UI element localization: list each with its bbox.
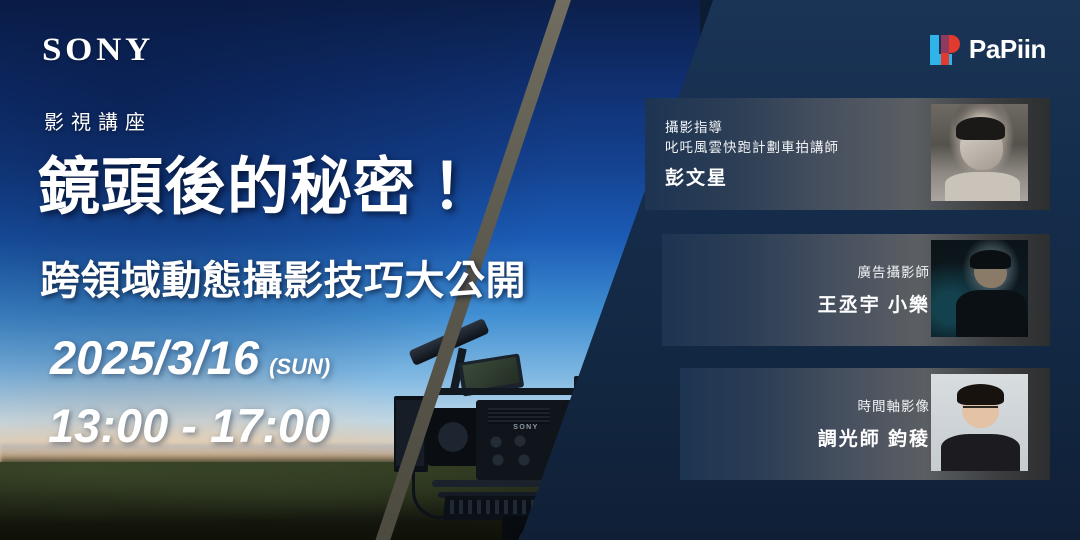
speaker-card[interactable]: 攝影指導 叱吒風雲快跑計劃車拍講師 彭文星 [645,98,1050,210]
speaker-name: 調光師 鈞稜 [818,424,930,451]
speaker-card-text: 廣告攝影師 王丞宇 小樂 [818,234,930,346]
speaker-role-line-1: 時間軸影像 [858,397,931,417]
speaker-card[interactable]: 廣告攝影師 王丞宇 小樂 [662,234,1050,346]
speaker-role-line-2: 叱吒風雲快跑計劃車拍講師 [665,138,839,158]
speaker-card-list: 攝影指導 叱吒風雲快跑計劃車拍講師 彭文星 廣告攝影師 王丞宇 小樂 時間軸影像… [0,0,1080,540]
speaker-card-text: 時間軸影像 調光師 鈞稜 [818,368,930,480]
speaker-card[interactable]: 時間軸影像 調光師 鈞稜 [680,368,1050,480]
speaker-portrait [931,240,1028,337]
speaker-role-line-1: 廣告攝影師 [858,263,931,283]
speaker-card-text: 攝影指導 叱吒風雲快跑計劃車拍講師 彭文星 [665,98,924,210]
speaker-name: 王丞宇 小樂 [818,290,930,317]
speaker-portrait [931,104,1028,201]
speaker-portrait [931,374,1028,471]
event-poster: SONY SONY PaPiin 影視講座 鏡頭後的秘密！ 跨 [0,0,1080,540]
speaker-role-line-1: 攝影指導 [665,118,723,138]
speaker-name: 彭文星 [665,163,728,190]
